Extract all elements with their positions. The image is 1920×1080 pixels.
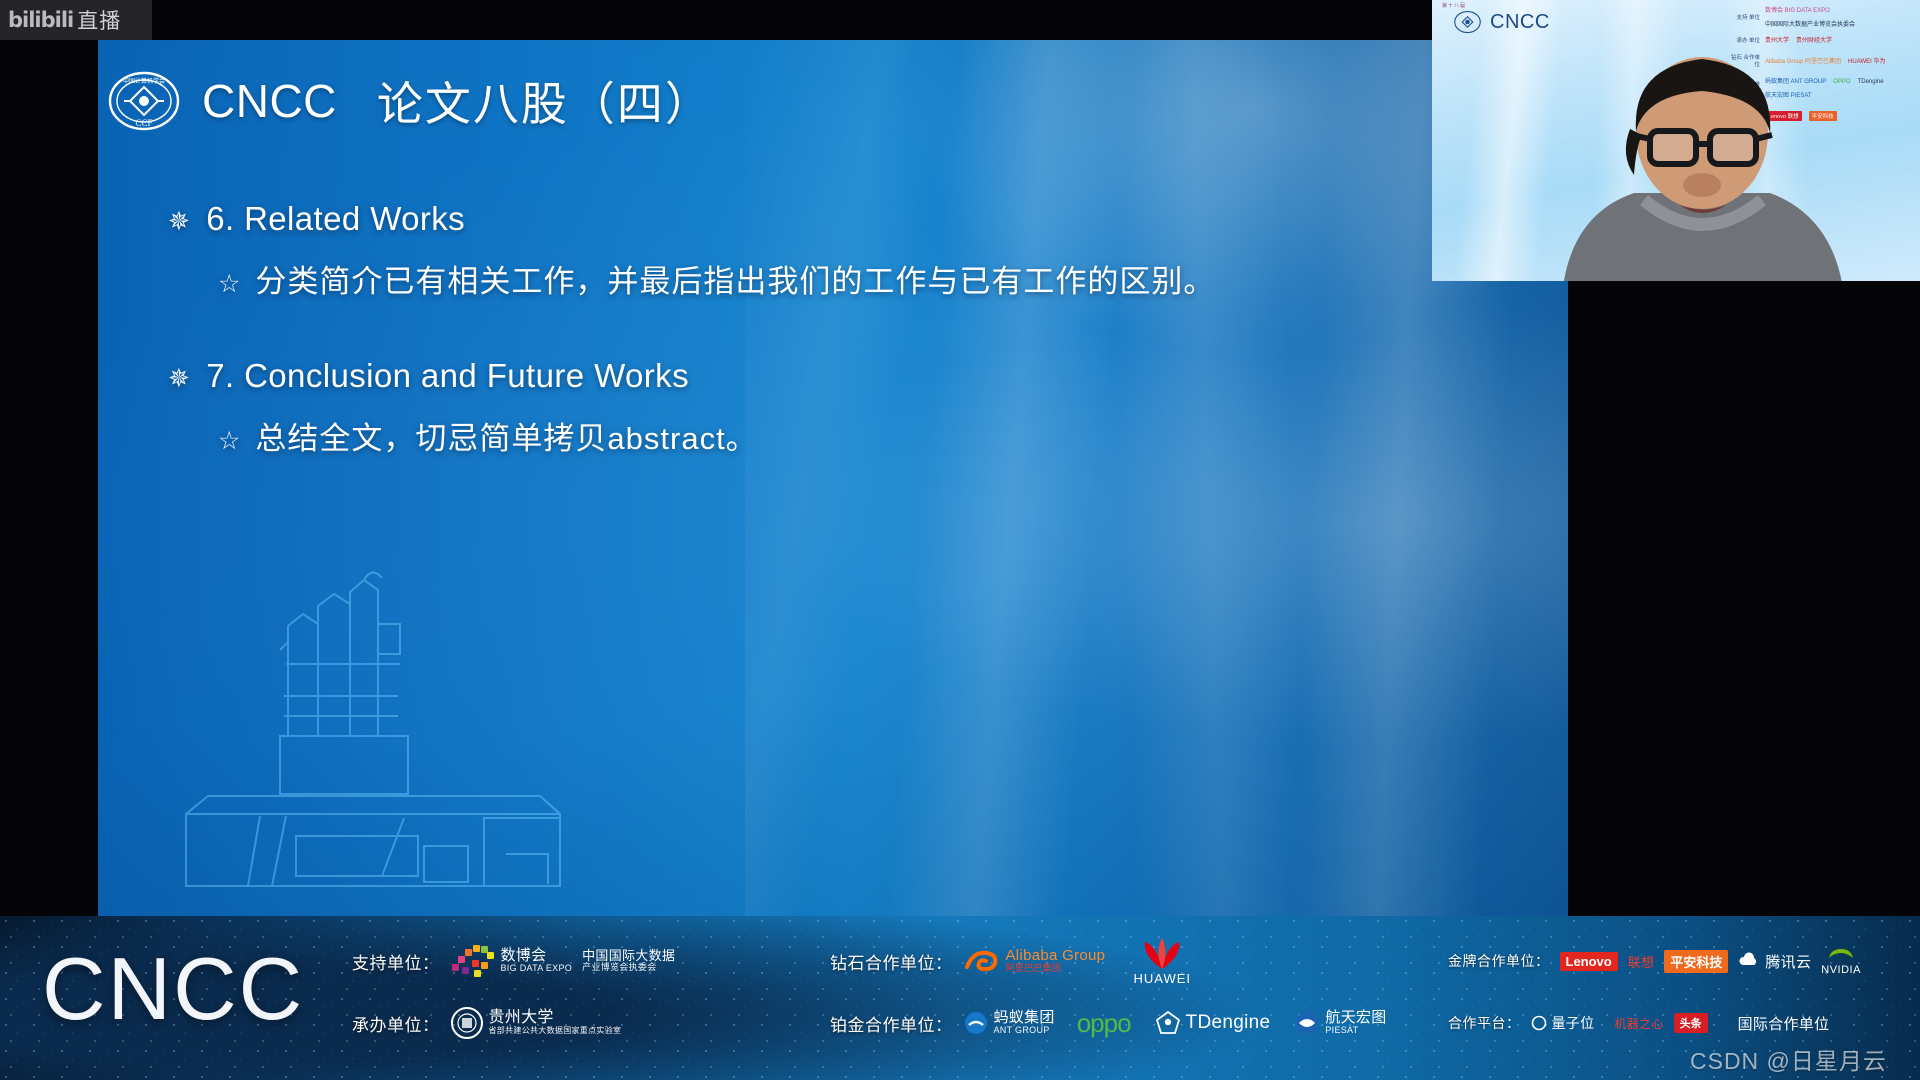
sponsor-line-label: 金牌合作单位： — [1448, 953, 1550, 969]
presenter-video — [1552, 45, 1852, 281]
sponsor-logo-text: 航天宏图 — [1325, 1010, 1386, 1026]
huawei-flower-icon — [1133, 936, 1191, 970]
qbitai-icon: 量子位 — [1531, 1013, 1595, 1033]
lenovo-icon: Lenovo — [1560, 952, 1618, 971]
ccf-logo-small-icon — [1454, 10, 1481, 34]
huawei-icon: HUAWEI — [1133, 936, 1191, 986]
sponsor-line-label: 支持单位： — [352, 949, 440, 974]
sponsor-logo-subtext: PIESAT — [1325, 1026, 1386, 1035]
bilibili-logo-text: bilibili — [8, 8, 73, 32]
sponsor-line: 金牌合作单位： Lenovo 联想 平安科技 腾讯云 NVIDIA — [1448, 930, 1861, 992]
speaker-webcam-overlay[interactable]: 第十八届 CNCC 支持 单位 数博会 BIG DATA EXPO 中国国际大数… — [1432, 0, 1920, 281]
lenovo-cn-text: 联想 — [1628, 952, 1655, 971]
tdengine-icon: TDengine — [1155, 1010, 1271, 1036]
nvidia-eye-icon — [1826, 946, 1856, 964]
qbit-circle-icon — [1531, 1015, 1547, 1031]
sponsor-logo-subtext: 省部共建公共大数据国家重点实验室 — [489, 1027, 622, 1035]
wall-row-label: 支持 单位 — [1730, 15, 1760, 22]
guizhou-university-seal: 贵州大学 省部共建公共大数据国家重点实验室 — [450, 1006, 622, 1040]
bullet-sub-row: ☆ 分类简介已有相关工作，并最后指出我们的工作与已有工作的区别。 — [218, 256, 1528, 301]
sponsor-line: 钻石合作单位： Alibaba Group 阿里巴巴集团 — [830, 930, 1387, 992]
sponsor-line: 支持单位： 数博会 BIG DATA EXPO 中国国际大数 — [352, 930, 675, 992]
tdengine-mark-icon — [1155, 1010, 1181, 1036]
webcam-cncc-logo: CNCC — [1454, 10, 1550, 34]
sponsor-logo-subtext: 产业博览会执委会 — [582, 963, 675, 972]
star-bullet-icon: ☆ — [218, 429, 241, 454]
sponsor-line: 铂金合作单位： 蚂蚁集团 ANT GROUP oppo — [830, 992, 1387, 1054]
presentation-slide: CCF 中国计算机学会 CNCC 论文八股（四） ✵ 6. Related Wo… — [98, 40, 1568, 916]
guiyang-skyline-lineart — [168, 546, 588, 906]
sponsor-logo-text: 贵州大学 — [489, 1010, 622, 1027]
asterisk-bullet-icon: ✵ — [168, 208, 190, 234]
slide-brand: CNCC — [202, 74, 337, 128]
jiqizhixin-icon: 机器之心 — [1614, 1015, 1663, 1032]
star-bullet-icon: ☆ — [218, 272, 241, 297]
bullet-heading-row: ✵ 7. Conclusion and Future Works — [168, 357, 1528, 395]
sponsor-logo-text: 数博会 — [501, 948, 573, 964]
slide-title: 论文八股（四） — [377, 68, 713, 134]
tencent-cloud-icon: 腾讯云 — [1738, 951, 1811, 972]
wall-logo: 数博会 BIG DATA EXPO — [1765, 8, 1830, 15]
piesat-icon: 航天宏图 PIESAT — [1294, 1010, 1386, 1036]
sponsor-bar-brand: CNCC — [42, 938, 304, 1040]
sponsor-group-support: 支持单位： 数博会 BIG DATA EXPO 中国国际大数 — [352, 930, 675, 1070]
bilibili-watermark: bilibili 直播 — [0, 0, 152, 40]
sponsor-logo-text: HUAWEI — [1134, 971, 1192, 986]
sponsor-logo-text: TDengine — [1186, 1012, 1271, 1034]
bullet-sub-text: 总结全文，切忌简单拷贝abstract。 — [255, 413, 757, 458]
wall-logo: 中国国际大数据产业博览会执委会 — [1765, 22, 1855, 29]
ant-mark-icon — [963, 1010, 989, 1036]
webcam-brand-text: CNCC — [1490, 11, 1550, 34]
tencent-cloud-mark-icon — [1738, 952, 1760, 970]
sponsor-group-partners: 钻石合作单位： Alibaba Group 阿里巴巴集团 — [830, 930, 1387, 1070]
bullet-heading-row: ✵ 6. Related Works — [168, 200, 1528, 238]
sponsor-logo-subtext: 阿里巴巴集团 — [1006, 964, 1106, 973]
sponsor-logo-text: 蚂蚁集团 — [994, 1010, 1055, 1026]
live-stream-screen: bilibili 直播 — [0, 0, 1920, 1080]
sponsor-logo: 中国国际大数据 产业博览会执委会 — [582, 949, 675, 972]
sponsor-line: 承办单位： 贵州大学 省部共建公共大数据国家重点实验室 — [352, 992, 675, 1054]
nvidia-icon: NVIDIA — [1821, 946, 1861, 976]
piesat-mark-icon — [1294, 1010, 1320, 1036]
sponsor-logo-subtext: ANT GROUP — [994, 1026, 1055, 1035]
sponsor-bar: CNCC 支持单位： 数博会 BIG DATA EXPO — [0, 916, 1920, 1080]
csdn-watermark: CSDN @日星月云 — [1690, 1042, 1887, 1076]
svg-text:中国计算机学会: 中国计算机学会 — [123, 77, 165, 85]
expo-dots-icon — [450, 942, 496, 980]
bullet-heading-text: 6. Related Works — [206, 200, 465, 238]
sponsor-logo-text: 腾讯云 — [1765, 951, 1811, 972]
alibaba-mark-icon — [963, 947, 1001, 975]
pingan-icon: 平安科技 — [1664, 950, 1728, 973]
bigdata-expo-icon: 数博会 BIG DATA EXPO — [450, 942, 573, 980]
bullet-block: ✵ 6. Related Works ☆ 分类简介已有相关工作，并最后指出我们的… — [168, 200, 1528, 301]
wall-logo: TDengine — [1858, 79, 1884, 86]
webcam-corner-tag: 第十八届 — [1442, 2, 1466, 9]
slide-header: CCF 中国计算机学会 CNCC 论文八股（四） — [108, 68, 713, 134]
bullet-sub-row: ☆ 总结全文，切忌简单拷贝abstract。 — [218, 413, 1528, 458]
slide-body: ✵ 6. Related Works ☆ 分类简介已有相关工作，并最后指出我们的… — [168, 200, 1528, 514]
wall-logo: HUAWEI 华为 — [1848, 59, 1885, 66]
svg-text:CCF: CCF — [135, 118, 152, 128]
alibaba-icon: Alibaba Group 阿里巴巴集团 — [963, 947, 1106, 975]
sponsor-line-label: 承办单位： — [352, 1011, 440, 1036]
sponsor-logo-text: 量子位 — [1552, 1013, 1595, 1033]
sponsor-line-label: 铂金合作单位： — [830, 1011, 953, 1036]
bilibili-live-label: 直播 — [77, 5, 121, 35]
wall-row: 支持 单位 数博会 BIG DATA EXPO 中国国际大数据产业博览会执委会 — [1730, 8, 1914, 29]
oppo-icon: oppo — [1077, 1008, 1131, 1039]
asterisk-bullet-icon: ✵ — [168, 365, 190, 391]
bullet-block: ✵ 7. Conclusion and Future Works ☆ 总结全文，… — [168, 357, 1528, 458]
sponsor-line-label: 钻石合作单位： — [830, 949, 953, 974]
sponsor-logo-text: Alibaba Group — [1006, 948, 1106, 964]
bullet-heading-text: 7. Conclusion and Future Works — [206, 357, 689, 395]
ant-group-icon: 蚂蚁集团 ANT GROUP — [963, 1010, 1055, 1036]
toutiao-icon: 头条 — [1674, 1013, 1708, 1033]
ccf-logo: CCF 中国计算机学会 — [108, 70, 180, 132]
university-seal-icon — [450, 1006, 484, 1040]
sponsor-line-label: 合作平台： — [1448, 1015, 1521, 1031]
intl-partner-label: 国际合作单位 — [1738, 1013, 1830, 1034]
sponsor-logo-text: NVIDIA — [1821, 964, 1861, 976]
bullet-sub-text: 分类简介已有相关工作，并最后指出我们的工作与已有工作的区别。 — [255, 256, 1215, 301]
sponsor-logo-subtext: BIG DATA EXPO — [501, 964, 573, 973]
